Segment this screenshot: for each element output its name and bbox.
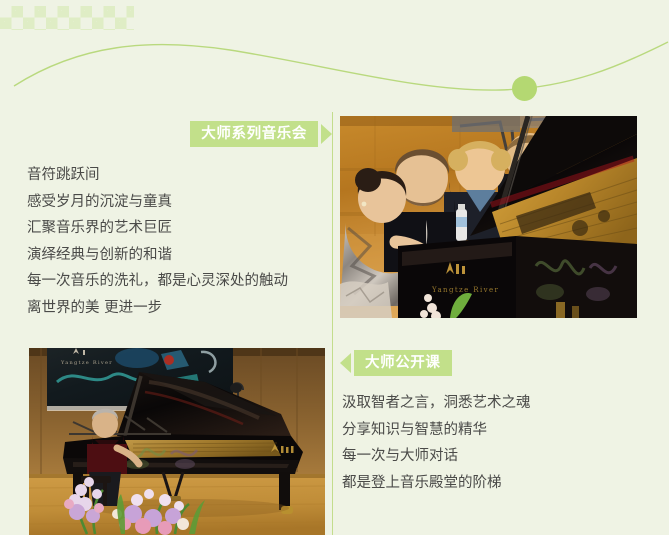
- accent-dot: [512, 76, 537, 101]
- chevron-left-icon: [340, 353, 351, 373]
- text-line: 每一次与大师对话: [342, 443, 531, 470]
- badge-label-master-open-class: 大师公开课: [365, 350, 441, 376]
- badge-box: 大师系列音乐会: [190, 121, 318, 147]
- text-line: 演绎经典与创新的和谐: [27, 242, 288, 269]
- svg-text:Yangtze River: Yangtze River: [431, 286, 499, 294]
- badge-masterclass-concert[interactable]: 大师系列音乐会: [190, 121, 332, 147]
- badge-master-open-class[interactable]: 大师公开课: [340, 350, 452, 376]
- recital-stage-photo: Yangtze River: [29, 348, 325, 535]
- text-block-masterclass-concert: 音符跳跃间 感受岁月的沉淀与童真 汇聚音乐界的艺术巨匠 演绎经典与创新的和谐 每…: [27, 162, 288, 321]
- text-line: 都是登上音乐殿堂的阶梯: [342, 470, 531, 497]
- poster-page: 大师系列音乐会 音符跳跃间 感受岁月的沉淀与童真 汇聚音乐界的艺术巨匠 演绎经典…: [0, 0, 669, 535]
- text-block-master-open-class: 汲取智者之言，洞悉艺术之魂 分享知识与智慧的精华 每一次与大师对话 都是登上音乐…: [342, 390, 531, 496]
- text-line: 感受岁月的沉淀与童真: [27, 189, 288, 216]
- text-line: 分享知识与智慧的精华: [342, 417, 531, 444]
- text-line: 离世界的美 更进一步: [27, 295, 288, 322]
- text-line: 汇聚音乐界的艺术巨匠: [27, 215, 288, 242]
- text-line: 每一次音乐的洗礼，都是心灵深处的触动: [27, 268, 288, 295]
- wave-line: [0, 30, 669, 110]
- text-line: 汲取智者之言，洞悉艺术之魂: [342, 390, 531, 417]
- badge-box: 大师公开课: [354, 350, 452, 376]
- chevron-right-icon: [321, 124, 332, 144]
- svg-text:Yangtze River: Yangtze River: [60, 360, 113, 366]
- badge-label-masterclass-concert: 大师系列音乐会: [201, 121, 307, 147]
- masterclass-piano-photo: Yangtze River: [340, 116, 637, 318]
- checkerboard-pattern: [0, 6, 134, 30]
- text-line: 音符跳跃间: [27, 162, 288, 189]
- vertical-divider: [332, 112, 333, 535]
